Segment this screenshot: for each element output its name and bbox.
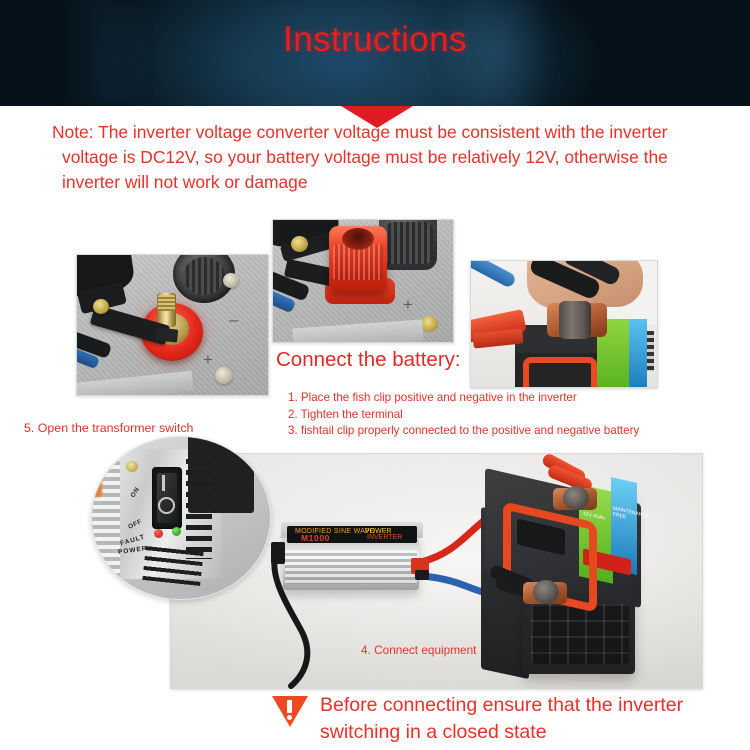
inverter-label-right-bottom: INVERTER [367, 534, 402, 541]
switch-callout-bubble: ON OFF FAULT POWER [91, 436, 271, 600]
list-item: 2. Tighten the terminal [288, 407, 708, 424]
battery-indicator-dots [647, 331, 654, 371]
connect-equipment-caption: 4. Connect equipment [361, 643, 476, 657]
inverter-heatsink-ridge [91, 457, 120, 577]
black-knob [379, 220, 437, 270]
switch-off-mark [158, 497, 175, 514]
down-arrow-icon [341, 106, 413, 128]
inverter-heatsink-fins [285, 550, 417, 584]
plus-mark: + [403, 296, 413, 313]
orange-reflection [91, 477, 102, 497]
step-5-label: 5. Open the transformer switch [24, 421, 193, 435]
note-line-2: voltage is DC12V, so your battery voltag… [52, 145, 710, 170]
warning-exclamation-bar [287, 700, 292, 713]
connect-battery-heading: Connect the battery: [276, 348, 461, 372]
brass-screw-2 [421, 316, 438, 332]
list-item: 3. fishtail clip properly connected to t… [288, 423, 708, 440]
battery-blue-label [629, 319, 647, 387]
minus-mark: – [229, 311, 238, 328]
battery-negative-terminal [533, 580, 559, 604]
inverter-output-socket [271, 542, 285, 564]
battery-positive-terminal [563, 486, 589, 510]
page-title: Instructions [0, 20, 750, 60]
note-line-3: inverter will not work or damage [52, 170, 710, 195]
switch-on-mark [162, 475, 165, 491]
case-screw [126, 461, 138, 472]
warning-line-1: Before connecting ensure that the invert… [320, 692, 750, 719]
photo-terminal-nut-tightened: + [272, 219, 454, 343]
plus-mark: + [203, 351, 213, 368]
warning-exclamation-dot [287, 715, 292, 720]
battery-grille [531, 604, 629, 664]
inverter-black-terminal [415, 570, 429, 580]
fault-led [154, 529, 163, 538]
battery-terminal-post [559, 301, 591, 339]
inverter-label-model: M1000 [301, 533, 330, 543]
battery-orange-frame [523, 357, 597, 387]
vent-slots-2 [142, 546, 203, 586]
red-terminal-nut [329, 226, 387, 292]
warning-line-2: switching in a closed state [320, 719, 750, 746]
connect-steps-list: 1. Place the fish clip positive and nega… [288, 390, 708, 440]
brass-screw [93, 299, 109, 314]
note-text: Note: The inverter voltage converter vol… [52, 120, 710, 195]
panel-screw-bottom [215, 367, 233, 384]
power-led [172, 527, 181, 536]
inverter-label: MODIFIED SINE WAVE M1000 POWER INVERTER [287, 526, 417, 543]
photo-inverter-terminal-closeup: – + [76, 254, 269, 396]
warning-text: Before connecting ensure that the invert… [320, 692, 750, 746]
brass-screw [291, 236, 308, 252]
brass-terminal-post [157, 293, 176, 327]
photo-wiring-setup: MODIFIED SINE WAVE M1000 POWER INVERTER … [170, 453, 703, 689]
photo-clip-on-battery-post [470, 260, 658, 388]
vent-slots [186, 459, 212, 559]
list-item: 1. Place the fish clip positive and nega… [288, 390, 708, 407]
header-banner: Instructions [0, 0, 750, 106]
panel-screw-top [223, 273, 239, 288]
